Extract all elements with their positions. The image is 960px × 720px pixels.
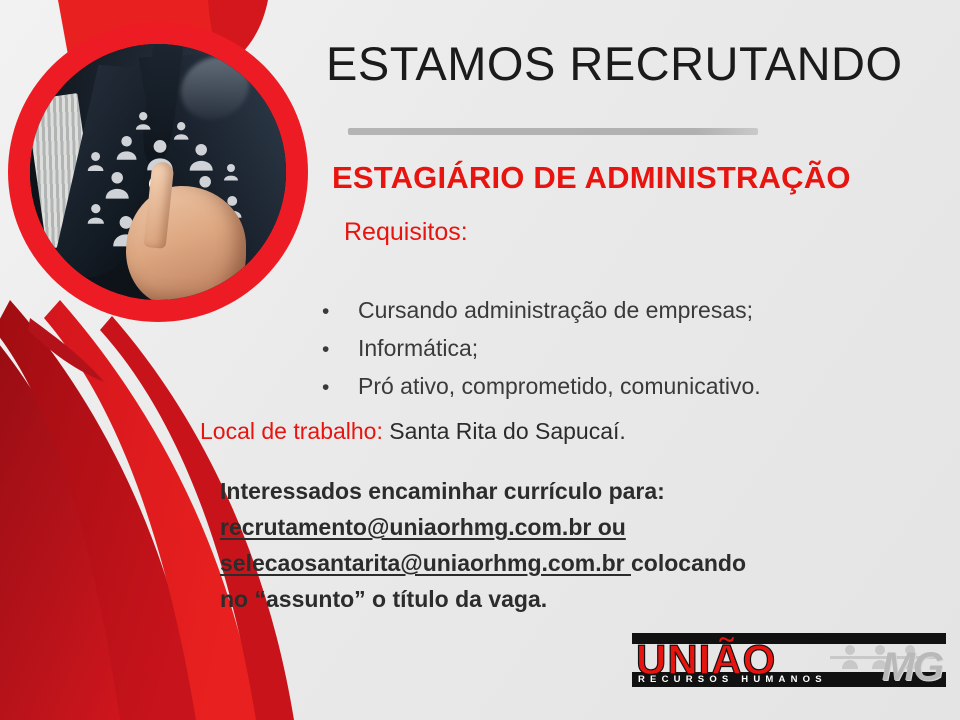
requirements-list: • Cursando administração de empresas; • …: [322, 292, 761, 406]
bullet-icon: •: [322, 294, 358, 330]
email-link-secondary[interactable]: selecaosantarita@uniaorhmg.com.br: [220, 550, 631, 576]
title-divider: [348, 128, 758, 135]
list-item: • Pró ativo, comprometido, comunicativo.: [322, 368, 761, 406]
bullet-icon: •: [322, 370, 358, 406]
page-title: ESTAMOS RECRUTANDO: [326, 36, 903, 91]
work-location-label: Local de trabalho:: [200, 418, 383, 444]
work-location: Local de trabalho: Santa Rita do Sapucaí…: [200, 418, 626, 445]
contact-email-primary-line: recrutamento@uniaorhmg.com.br ou: [220, 509, 746, 545]
contact-block: Interessados encaminhar currículo para: …: [220, 473, 746, 617]
list-item-label: Cursando administração de empresas;: [358, 292, 753, 328]
list-item: • Informática;: [322, 330, 761, 368]
contact-subject-note: no “assunto” o título da vaga.: [220, 581, 746, 617]
photo-red-ring: [8, 22, 308, 322]
work-location-value: Santa Rita do Sapucaí.: [389, 418, 626, 444]
recruiter-photo: [30, 44, 286, 300]
company-logo: UNIÃO RECURSOS HUMANOS MG: [632, 633, 946, 695]
contact-after-email: colocando: [631, 550, 746, 576]
list-item-label: Pró ativo, comprometido, comunicativo.: [358, 368, 761, 404]
job-title: ESTAGIÁRIO DE ADMINISTRAÇÃO: [332, 160, 851, 196]
photo-scene: [30, 44, 286, 300]
requirements-label: Requisitos:: [344, 218, 468, 247]
logo-state: MG: [882, 647, 942, 687]
list-item: • Cursando administração de empresas;: [322, 292, 761, 330]
contact-email-secondary-line: selecaosantarita@uniaorhmg.com.br coloca…: [220, 545, 746, 581]
recruitment-poster: ESTAMOS RECRUTANDO ESTAGIÁRIO DE ADMINIS…: [0, 0, 960, 720]
bullet-icon: •: [322, 332, 358, 368]
logo-tagline: RECURSOS HUMANOS: [638, 674, 827, 685]
contact-instruction: Interessados encaminhar currículo para:: [220, 473, 746, 509]
email-link-primary[interactable]: recrutamento@uniaorhmg.com.br ou: [220, 514, 626, 540]
list-item-label: Informática;: [358, 330, 478, 366]
